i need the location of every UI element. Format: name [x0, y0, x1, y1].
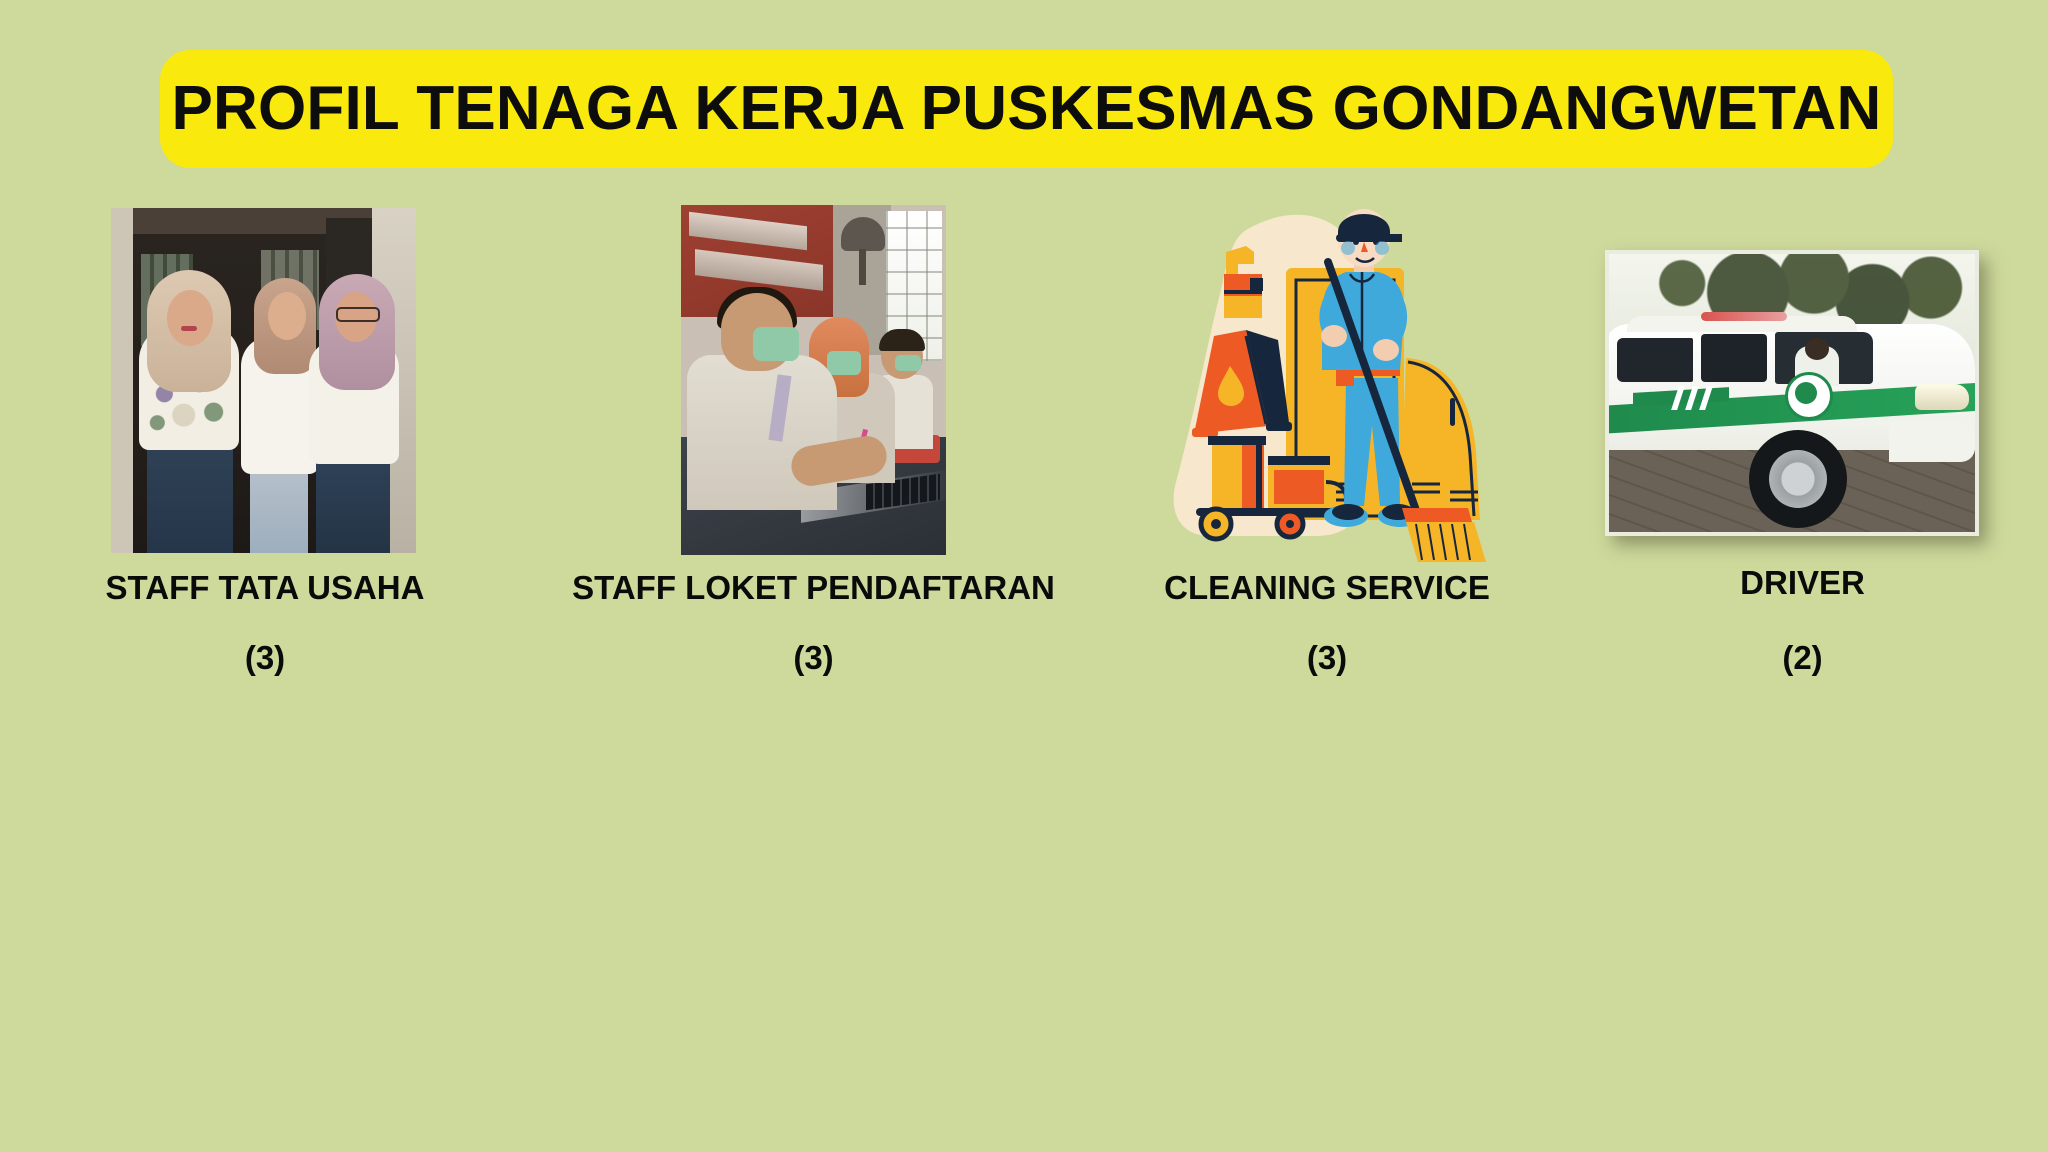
count-staff-tata-usaha: (3)	[0, 640, 530, 676]
headlight	[1915, 384, 1969, 410]
clerk-a-shirt	[687, 355, 837, 510]
count-driver: (2)	[1557, 640, 2048, 676]
caption-staff-tata-usaha: STAFF TATA USAHA	[0, 570, 530, 606]
wall-fan-mount	[859, 249, 866, 285]
clerk-b-face-mask	[827, 351, 861, 375]
front-bumper	[1889, 422, 1975, 462]
staff-a-skirt	[147, 436, 233, 553]
photo-puskesmas-ambulance-van-with-driver	[1605, 250, 1979, 536]
staff-category-row: STAFF TATA USAHA (3)	[0, 195, 2048, 715]
caption-staff-loket-pendaftaran: STAFF LOKET PENDAFTARAN	[530, 570, 1097, 606]
title-banner: PROFIL TENAGA KERJA PUSKESMAS GONDANGWET…	[160, 50, 1893, 168]
clerk-c-hair	[879, 329, 925, 351]
drape-handle	[1450, 398, 1455, 426]
rear-window	[1617, 338, 1693, 382]
clerk-a-face-mask	[753, 327, 799, 361]
count-cleaning-service: (3)	[1097, 640, 1557, 676]
page-title: PROFIL TENAGA KERJA PUSKESMAS GONDANGWET…	[171, 78, 1881, 140]
count-staff-loket-pendaftaran: (3)	[530, 640, 1097, 676]
illustration-janitor-with-broom-and-mop-cart	[1150, 190, 1510, 590]
staff-a-face	[167, 290, 213, 346]
photo-three-female-administrative-staff	[111, 208, 416, 553]
wheel-rim	[1769, 450, 1827, 508]
photo-registration-counter-staff	[681, 205, 946, 555]
doorway-wall-left	[111, 208, 133, 553]
caption-driver: DRIVER	[1557, 565, 2048, 601]
puskesmas-logo-inner	[1795, 382, 1817, 404]
middle-window	[1701, 334, 1767, 382]
emergency-lightbar	[1701, 312, 1787, 321]
staff-b-face	[268, 292, 306, 340]
caption-cleaning-service: CLEANING SERVICE	[1097, 570, 1557, 606]
wet-floor-sign-icon	[1192, 330, 1292, 437]
staff-c-glasses	[336, 307, 380, 322]
staff-c-skirt	[316, 452, 390, 553]
cleaning-service-illustration-svg	[1150, 190, 1510, 590]
driver-head	[1805, 338, 1829, 360]
staff-a-lips	[181, 326, 197, 331]
clerk-c-face-mask	[895, 355, 921, 371]
